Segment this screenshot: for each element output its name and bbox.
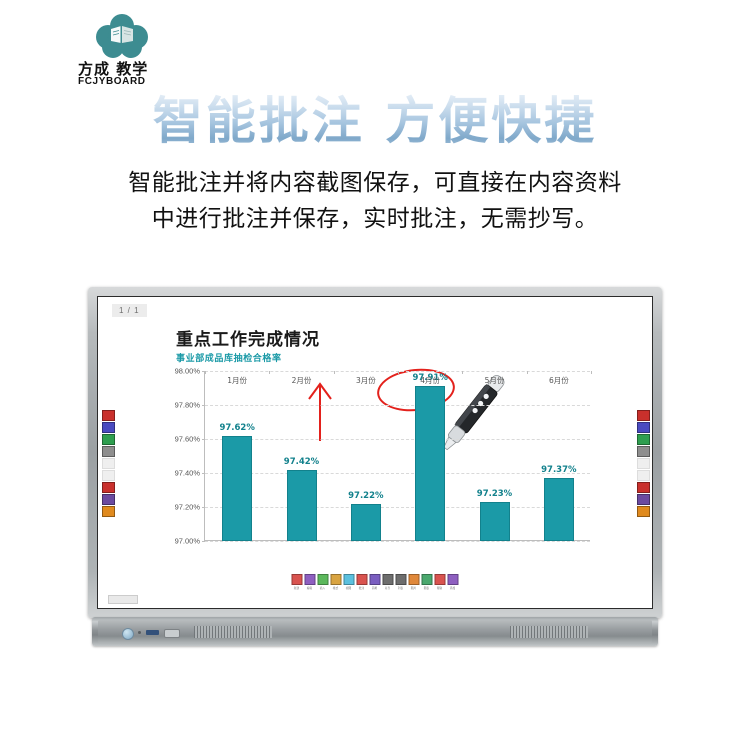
chart-bar-value-label: 97.62% xyxy=(207,423,267,433)
x-axis-tick-label: 3月份 xyxy=(336,375,396,386)
chart-subtitle: 事业部成品库抽检合格率 xyxy=(176,351,282,364)
align-icon[interactable] xyxy=(383,574,394,585)
y-axis-tick-label: 97.00% xyxy=(175,537,200,546)
y-tick-mark xyxy=(202,473,205,474)
flower-book-logo-icon xyxy=(96,14,148,60)
undo-tool-icon[interactable] xyxy=(102,458,115,469)
chart-bar-value-label: 97.22% xyxy=(336,491,396,501)
y-tick-mark xyxy=(202,405,205,406)
status-led xyxy=(138,631,141,634)
red-up-arrow-annotation xyxy=(305,377,335,443)
book-icon xyxy=(109,24,135,46)
toolbar-item[interactable]: 批注 xyxy=(357,574,368,590)
device-base xyxy=(92,617,658,646)
chart-bar-value-label: 97.37% xyxy=(529,465,589,475)
toolbar-item[interactable]: 图表 xyxy=(422,574,433,590)
toolbar-item-label: 帮助 xyxy=(437,586,442,590)
eraser-tool-icon[interactable] xyxy=(637,446,650,457)
y-axis-tick-label: 97.40% xyxy=(175,469,200,478)
device-bezel: 1 / 1 重点工作完成情况 事业部成品库抽检合格率 xyxy=(88,287,662,618)
subtitle-line-2: 中进行批注并保存，实时批注，无需抄写。 xyxy=(40,201,710,237)
chart-plot-area: 98.00%97.80%97.60%97.40%97.20%97.00%97.6… xyxy=(204,371,590,541)
y-axis-tick-label: 97.20% xyxy=(175,503,200,512)
chart-bar-value-label: 97.42% xyxy=(272,457,332,467)
chart-gridline xyxy=(205,541,590,542)
page-title: 智能批注 方便快捷 xyxy=(0,92,750,150)
toolbar-item[interactable]: 新建 xyxy=(292,574,303,590)
color-picker-tool-icon[interactable] xyxy=(102,434,115,445)
y-axis-tick-label: 97.80% xyxy=(175,401,200,410)
toolbar-item[interactable]: 画笔 xyxy=(370,574,381,590)
y-tick-mark xyxy=(202,439,205,440)
toolbar-item[interactable]: 视图 xyxy=(344,574,355,590)
toolbar-item-label: 图片 xyxy=(411,586,416,590)
brand-logo: 方成 教学 FCJYBOARD xyxy=(78,14,198,86)
toolbar-item[interactable]: 格式 xyxy=(331,574,342,590)
annotate-icon[interactable] xyxy=(357,574,368,585)
interactive-whiteboard: 1 / 1 重点工作完成情况 事业部成品库抽检合格率 xyxy=(88,287,662,647)
chart-bar xyxy=(287,470,317,541)
undo-tool-icon[interactable] xyxy=(637,458,650,469)
clear-tool-icon[interactable] xyxy=(637,482,650,493)
save-tool-icon[interactable] xyxy=(102,506,115,517)
y-axis-tick-label: 97.60% xyxy=(175,435,200,444)
x-tick-mark xyxy=(527,371,528,374)
y-tick-mark xyxy=(202,541,205,542)
shape-tool-icon[interactable] xyxy=(102,494,115,505)
toolbar-item-label: 对齐 xyxy=(385,586,390,590)
save-tool-icon[interactable] xyxy=(637,506,650,517)
clear-tool-icon[interactable] xyxy=(102,482,115,493)
list-icon[interactable] xyxy=(396,574,407,585)
usb-port xyxy=(146,630,159,635)
pen-tool-icon[interactable] xyxy=(102,410,115,421)
brand-name-en: FCJYBOARD xyxy=(78,76,198,87)
left-tool-palette[interactable] xyxy=(102,410,115,518)
toolbar-item[interactable]: 插入 xyxy=(318,574,329,590)
speaker-grille-left xyxy=(194,626,272,638)
pen-icon[interactable] xyxy=(370,574,381,585)
image-icon[interactable] xyxy=(409,574,420,585)
x-axis-tick-label: 2月份 xyxy=(272,375,332,386)
y-axis-tick-label: 98.00% xyxy=(175,367,200,376)
power-button[interactable] xyxy=(122,628,134,640)
x-axis-tick-label: 5月份 xyxy=(465,375,525,386)
subtitle-line-1: 智能批注并将内容截图保存，可直接在内容资料 xyxy=(40,165,710,201)
x-tick-mark xyxy=(205,371,206,374)
x-tick-mark xyxy=(591,371,592,374)
toolbar-item-label: 编辑 xyxy=(307,586,312,590)
shape-tool-icon[interactable] xyxy=(637,494,650,505)
highlighter-tool-icon[interactable] xyxy=(637,422,650,433)
right-tool-palette[interactable] xyxy=(637,410,650,518)
toolbar-item-label: 添加 xyxy=(450,586,455,590)
add-icon[interactable] xyxy=(448,574,459,585)
new-file-icon[interactable] xyxy=(292,574,303,585)
x-axis-tick-label: 4月份 xyxy=(400,375,460,386)
chart-bar xyxy=(222,436,252,541)
toolbar-item-label: 格式 xyxy=(333,586,338,590)
x-axis-tick-label: 6月份 xyxy=(529,375,589,386)
toolbar-item-label: 视图 xyxy=(346,586,351,590)
x-axis-tick-label: 1月份 xyxy=(207,375,267,386)
hdmi-port xyxy=(164,629,180,638)
toolbar-item-label: 图表 xyxy=(424,586,429,590)
chart-bar xyxy=(351,504,381,541)
chart-bar xyxy=(480,502,510,541)
chart-bar xyxy=(544,478,574,541)
insert-icon[interactable] xyxy=(318,574,329,585)
device-screen[interactable]: 1 / 1 重点工作完成情况 事业部成品库抽检合格率 xyxy=(97,296,653,609)
page-indicator: 1 / 1 xyxy=(112,304,147,317)
color-picker-tool-icon[interactable] xyxy=(637,434,650,445)
chart-title: 重点工作完成情况 xyxy=(176,325,320,350)
eraser-tool-icon[interactable] xyxy=(102,446,115,457)
toolbar-item-label: 批注 xyxy=(359,586,364,590)
base-panel xyxy=(98,620,652,643)
edit-icon[interactable] xyxy=(305,574,316,585)
pen-tool-icon[interactable] xyxy=(637,410,650,421)
bottom-toolbar[interactable]: 新建编辑插入格式视图批注画笔对齐列表图片图表帮助添加 xyxy=(292,574,459,590)
toolbar-item-label: 画笔 xyxy=(372,586,377,590)
toolbar-item[interactable]: 图片 xyxy=(409,574,420,590)
x-tick-mark xyxy=(462,371,463,374)
toolbar-item[interactable]: 列表 xyxy=(396,574,407,590)
toolbar-item-label: 列表 xyxy=(398,586,403,590)
chart-container: 重点工作完成情况 事业部成品库抽检合格率 xyxy=(158,325,608,575)
chart-bar xyxy=(415,386,445,541)
chart-gridline xyxy=(205,439,590,440)
toolbar-item[interactable]: 编辑 xyxy=(305,574,316,590)
chart-gridline xyxy=(205,405,590,406)
page-subtitle: 智能批注并将内容截图保存，可直接在内容资料 中进行批注并保存，实时批注，无需抄写… xyxy=(40,165,710,237)
toolbar-item[interactable]: 对齐 xyxy=(383,574,394,590)
status-strip xyxy=(108,595,138,604)
help-icon[interactable] xyxy=(435,574,446,585)
redo-tool-icon[interactable] xyxy=(637,470,650,481)
chart-icon[interactable] xyxy=(422,574,433,585)
toolbar-item-label: 新建 xyxy=(294,586,299,590)
x-tick-mark xyxy=(398,371,399,374)
y-tick-mark xyxy=(202,507,205,508)
chart-bar-value-label: 97.23% xyxy=(465,489,525,499)
toolbar-item-label: 插入 xyxy=(320,586,325,590)
view-icon[interactable] xyxy=(344,574,355,585)
toolbar-item[interactable]: 添加 xyxy=(448,574,459,590)
chart-gridline xyxy=(205,507,590,508)
toolbar-item[interactable]: 帮助 xyxy=(435,574,446,590)
redo-tool-icon[interactable] xyxy=(102,470,115,481)
highlighter-tool-icon[interactable] xyxy=(102,422,115,433)
speaker-grille-right xyxy=(510,626,588,638)
format-icon[interactable] xyxy=(331,574,342,585)
x-tick-mark xyxy=(269,371,270,374)
x-tick-mark xyxy=(334,371,335,374)
